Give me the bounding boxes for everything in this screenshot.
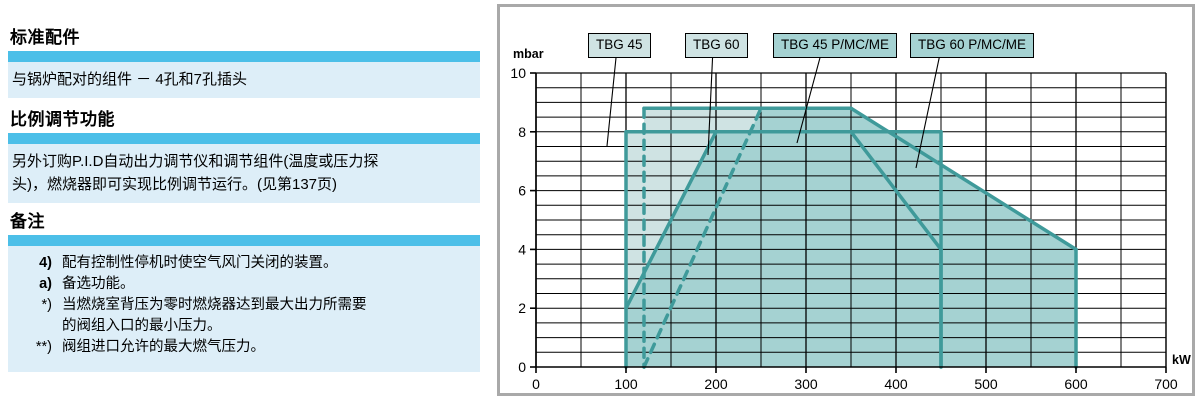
list-item: a) 备选功能。 [12,274,476,295]
x-tick-label: 200 [704,376,728,392]
x-tick-label: 400 [884,376,908,392]
x-tick-label: 500 [974,376,998,392]
section-modulating-function: 比例调节功能 另外订购P.I.D自动出力调节仪和调节组件(温度或压力探 头)，燃… [8,110,480,203]
left-text-column: 标准配件 与锅炉配对的组件 － 4孔和7孔插头 比例调节功能 另外订购P.I.D… [0,0,496,403]
y-tick-label: 6 [518,183,526,199]
note-marker: 4) [12,253,62,274]
legend-item-tbg-45-p-mc-me[interactable]: TBG 45 P/MC/ME [773,33,897,58]
x-tick-label: 700 [1154,376,1178,392]
note-marker: *) [12,295,62,316]
section-rule [8,51,480,62]
section-line: 与锅炉配对的组件 － 4孔和7孔插头 [12,68,474,91]
note-text: 阀组进口允许的最大燃气压力。 [62,337,476,358]
section-rule [8,235,480,246]
chart-inner: 02468100100200300400500600700 mbar kW TB… [500,7,1192,393]
x-tick-label: 100 [614,376,638,392]
list-item: 4) 配有控制性停机时使空气风门关闭的装置。 [12,253,476,274]
chart-panel: 02468100100200300400500600700 mbar kW TB… [497,4,1195,396]
section-line: 头)，燃烧器即可实现比例调节运行。(见第137页) [12,173,474,196]
section-body: 另外订购P.I.D自动出力调节仪和调节组件(温度或压力探 头)，燃烧器即可实现比… [8,144,480,203]
note-marker: a) [12,274,62,295]
section-standard-accessories: 标准配件 与锅炉配对的组件 － 4孔和7孔插头 [8,28,480,98]
note-text: 备选功能。 [62,274,476,295]
x-axis-unit-label: kW [1172,353,1191,367]
y-tick-label: 4 [518,241,526,257]
section-title: 备注 [10,212,480,232]
list-item: *) 当燃烧室背压为零时燃烧器达到最大出力所需要 [12,295,476,316]
section-title: 比例调节功能 [10,110,480,130]
pressure-output-chart: 02468100100200300400500600700 [500,7,1192,393]
section-rule [8,133,480,144]
list-item: **) 阀组进口允许的最大燃气压力。 [12,337,476,358]
section-notes: 备注 4) 配有控制性停机时使空气风门关闭的装置。 a) 备选功能。 *) 当燃… [8,212,480,372]
note-marker: **) [12,337,62,358]
legend-item-tbg-60-p-mc-me[interactable]: TBG 60 P/MC/ME [910,33,1034,58]
x-tick-label: 0 [532,376,540,392]
y-tick-label: 2 [518,300,526,316]
legend-item-tbg-60[interactable]: TBG 60 [685,33,748,58]
grid [536,73,1166,367]
note-text: 当燃烧室背压为零时燃烧器达到最大出力所需要 [62,295,476,316]
notes-list: 4) 配有控制性停机时使空气风门关闭的装置。 a) 备选功能。 *) 当燃烧室背… [8,246,480,372]
legend-item-tbg-45[interactable]: TBG 45 [588,33,651,58]
note-text: 配有控制性停机时使空气风门关闭的装置。 [62,253,476,274]
note-continuation: 的阀组入口的最小压力。 [12,316,476,337]
page-root: 标准配件 与锅炉配对的组件 － 4孔和7孔插头 比例调节功能 另外订购P.I.D… [0,0,1200,403]
y-tick-label: 8 [518,124,526,140]
y-tick-label: 0 [518,359,526,375]
y-tick-label: 10 [510,65,526,81]
section-body: 与锅炉配对的组件 － 4孔和7孔插头 [8,62,480,98]
section-line: 另外订购P.I.D自动出力调节仪和调节组件(温度或压力探 [12,150,474,173]
section-title: 标准配件 [10,28,480,48]
y-axis-unit-label: mbar [513,47,544,61]
x-tick-label: 300 [794,376,818,392]
x-tick-label: 600 [1064,376,1088,392]
